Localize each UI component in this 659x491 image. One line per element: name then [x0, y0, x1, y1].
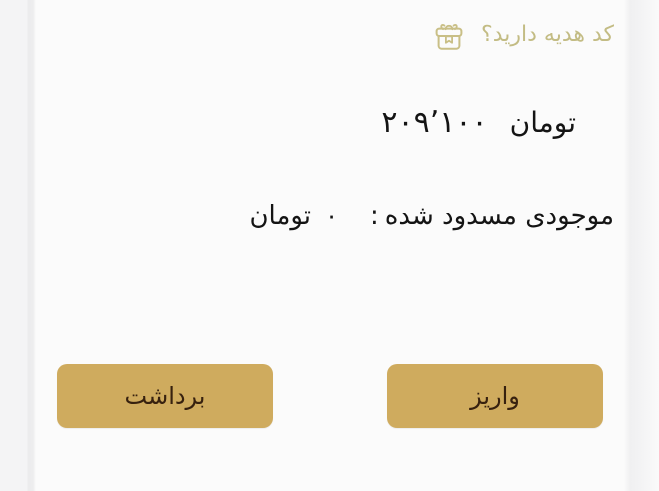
blocked-balance-amount: ۰: [311, 201, 364, 232]
gift-code-label: کد هدیه دارید؟: [481, 24, 614, 48]
withdraw-button[interactable]: برداشت: [57, 364, 273, 428]
balance-amount: ۲۰۹٬۱۰۰: [381, 104, 487, 142]
blocked-balance-colon: :: [364, 200, 385, 234]
wallet-content: کد هدیه دارید؟ تومان ۲۰۹٬۱۰۰: [36, 0, 624, 491]
wallet-screen: کد هدیه دارید؟ تومان ۲۰۹٬۱۰۰: [0, 0, 659, 491]
balance-currency: تومان: [510, 105, 576, 140]
blocked-balance-label: موجودی مسدود شده: [385, 200, 614, 234]
deposit-button[interactable]: واریز: [387, 364, 603, 428]
gift-code-promo[interactable]: کد هدیه دارید؟: [429, 16, 614, 56]
wallet-actions: واریز برداشت: [57, 364, 603, 428]
blocked-balance-row: موجودی مسدود شده : ۰ تومان: [249, 200, 614, 234]
gift-box-icon: [429, 16, 469, 56]
balance-display: تومان ۲۰۹٬۱۰۰: [381, 104, 576, 142]
blocked-balance-currency: تومان: [249, 200, 311, 234]
